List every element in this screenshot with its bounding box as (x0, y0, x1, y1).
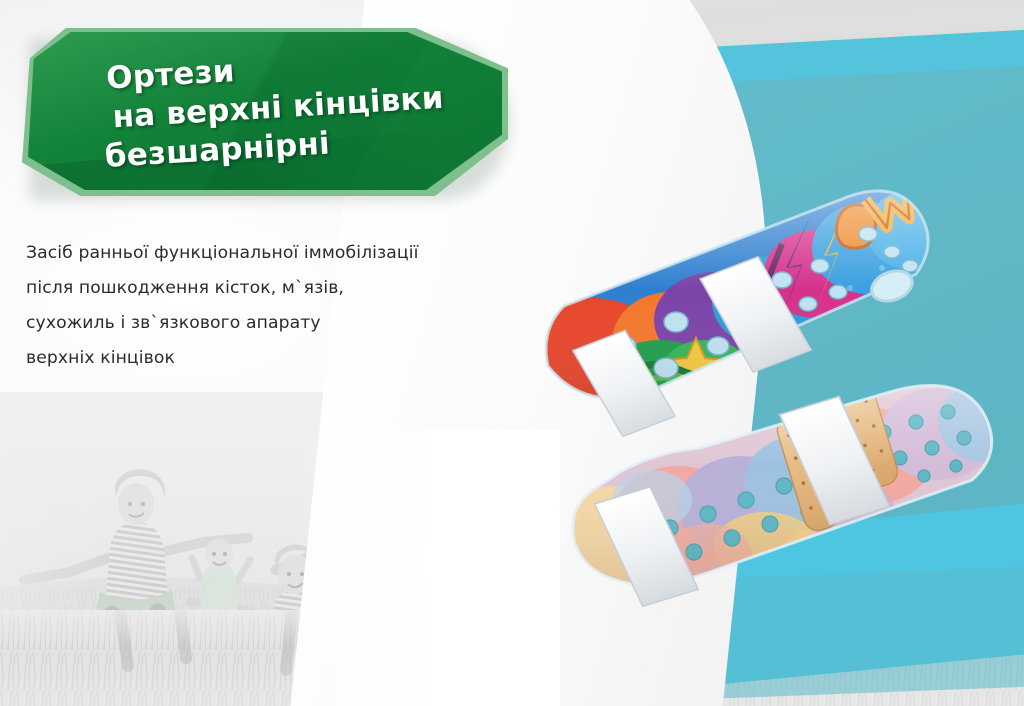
description-line-3: сухожиль і зв`язкового апарату (26, 306, 506, 341)
banner-title-text: Ортези на верхні кінцівки безшарнірні (12, 10, 495, 196)
white-swoosh-lower (300, 430, 560, 706)
slide-canvas: Ортези на верхні кінцівки безшарнірні За… (0, 0, 1024, 706)
banner-title-line-1: Ортези (105, 53, 235, 97)
description-line-1: Засіб ранньої функціональної іммобілізац… (26, 236, 506, 271)
description-line-2: після пошкодження кісток, м`язів, (26, 271, 506, 306)
description-line-4: верхніх кінцівок (26, 341, 506, 376)
green-title-banner: Ортези на верхні кінцівки безшарнірні (16, 24, 536, 204)
description-paragraph: Засіб ранньої функціональної іммобілізац… (26, 236, 506, 376)
